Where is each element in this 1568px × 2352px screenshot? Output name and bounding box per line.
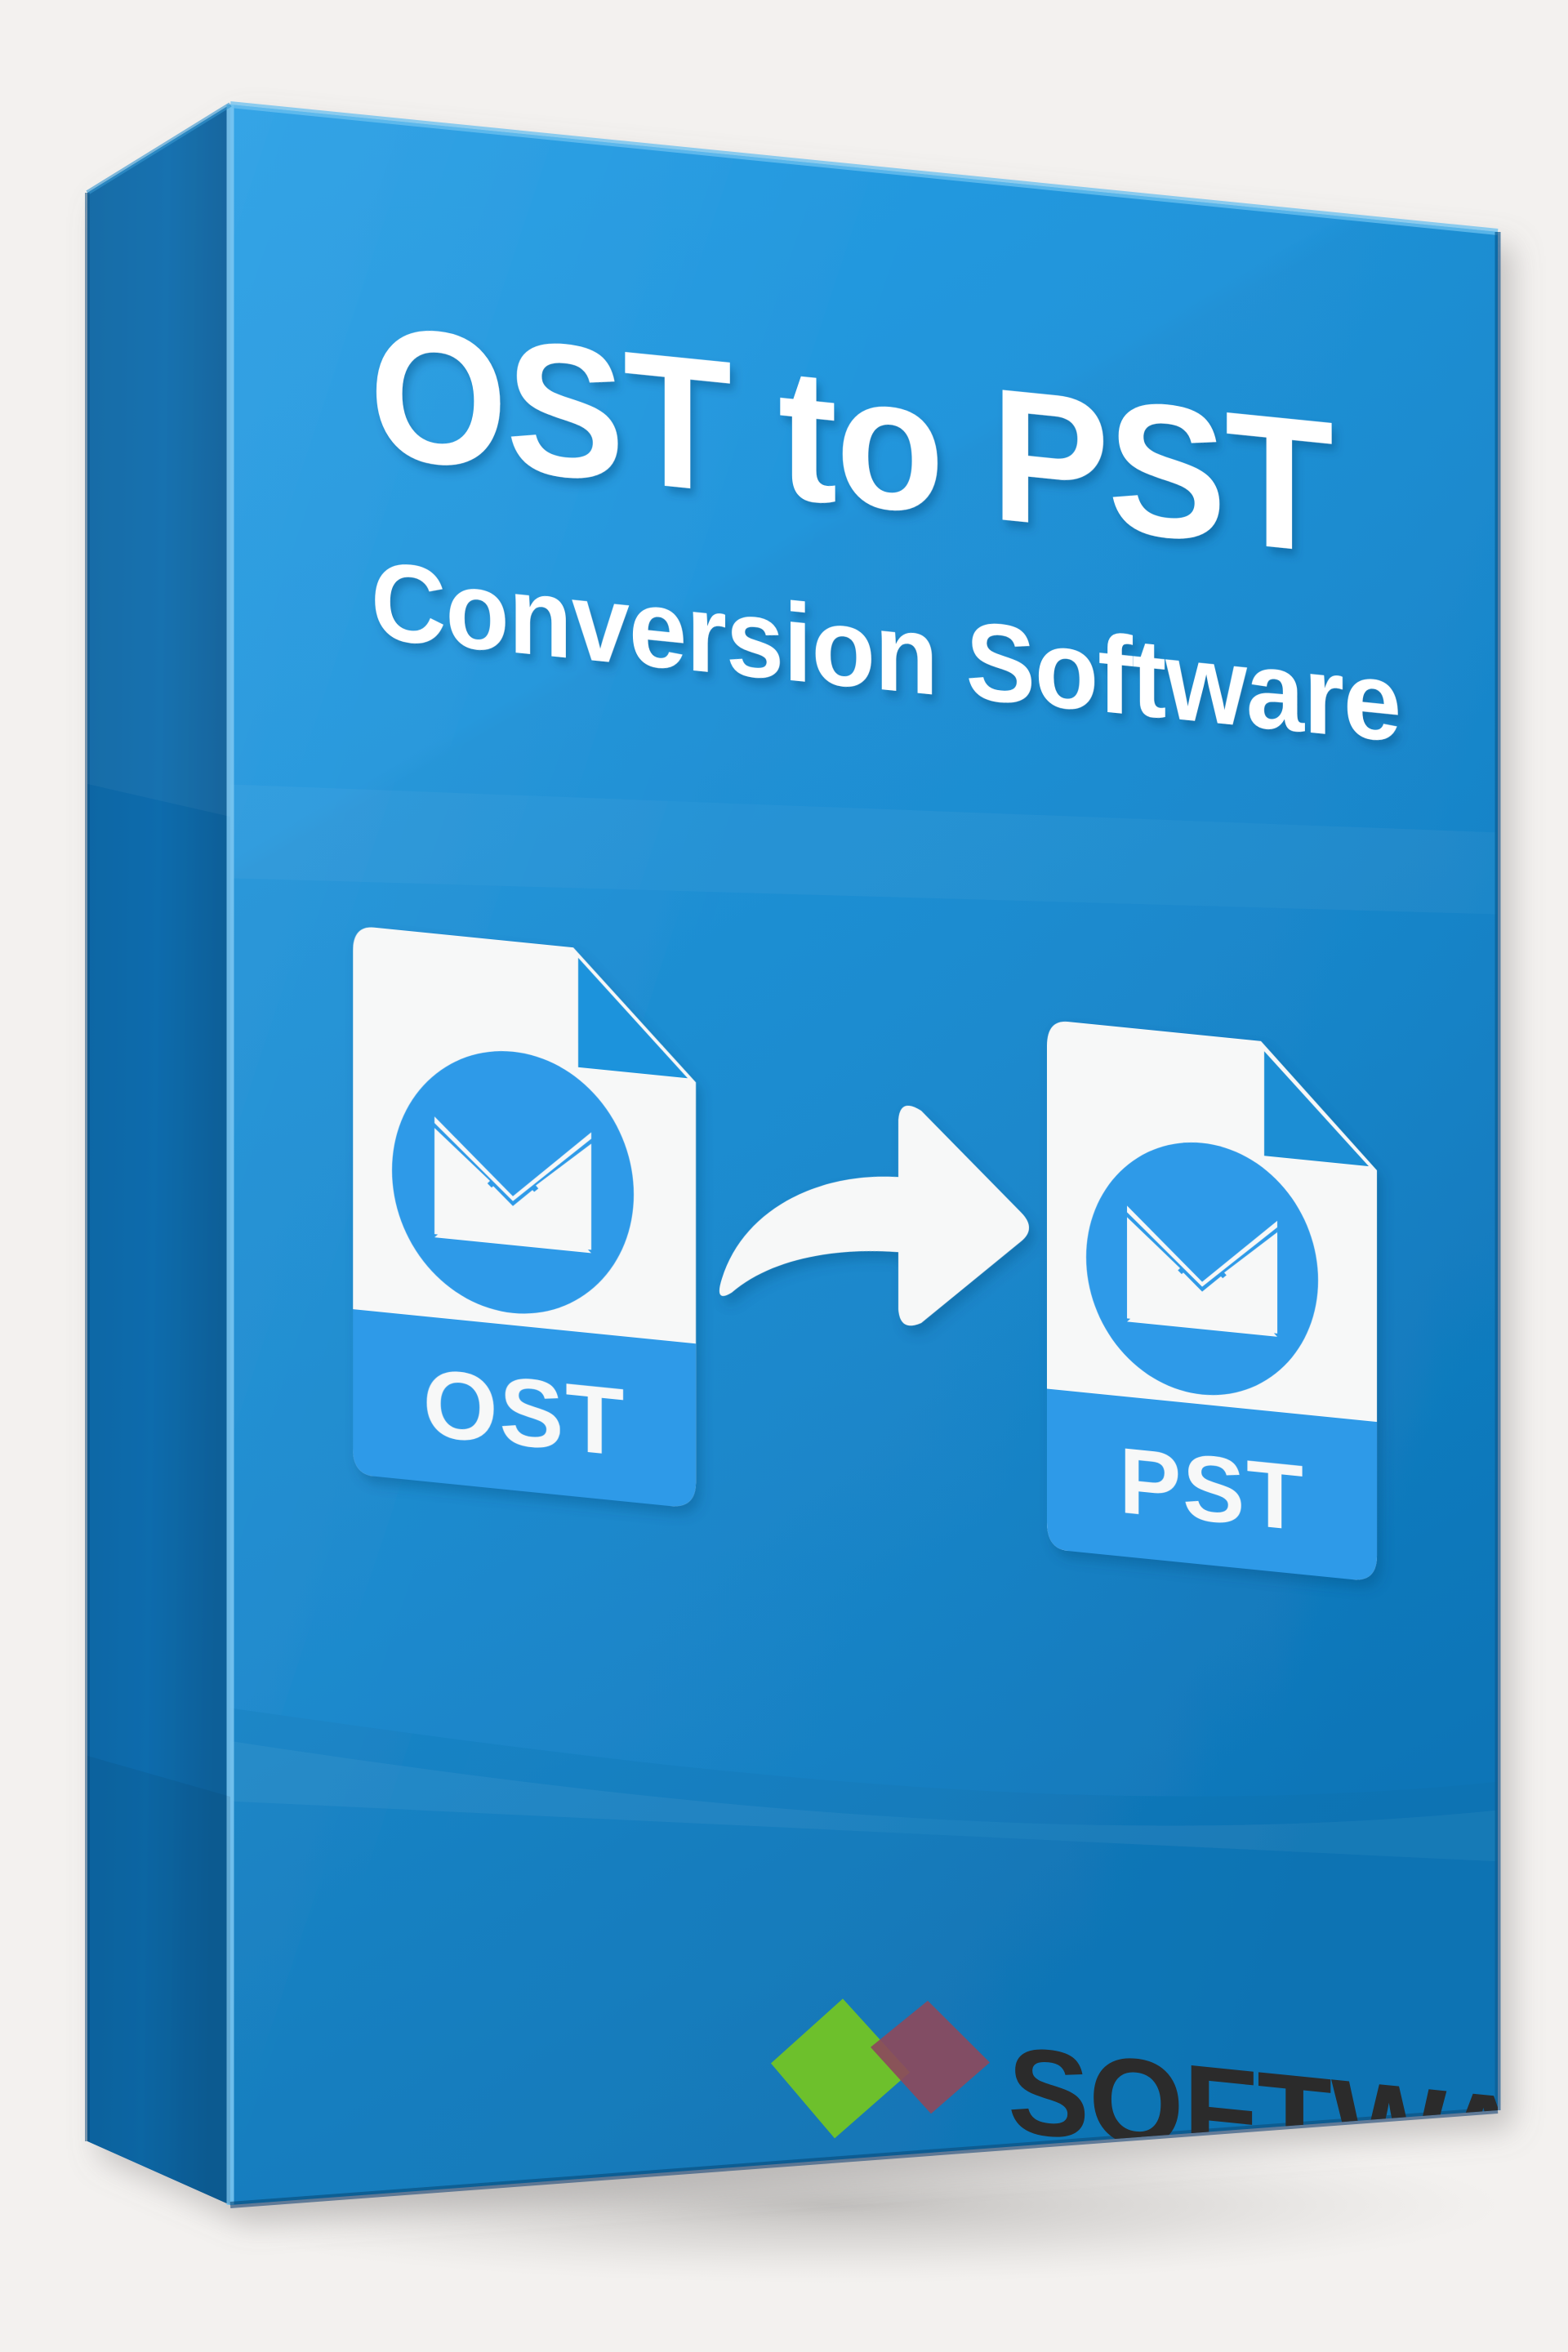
- pst-envelope-icon: [1127, 1205, 1277, 1336]
- ost-envelope-icon: [434, 1116, 591, 1253]
- software-box-3d: OST to PST Conversion Software: [0, 0, 1568, 2352]
- ost-label-text: OST: [423, 1349, 626, 1477]
- box-mockup-scene: OST to PST Conversion Software: [0, 0, 1568, 2352]
- pst-label-text: PST: [1119, 1429, 1305, 1552]
